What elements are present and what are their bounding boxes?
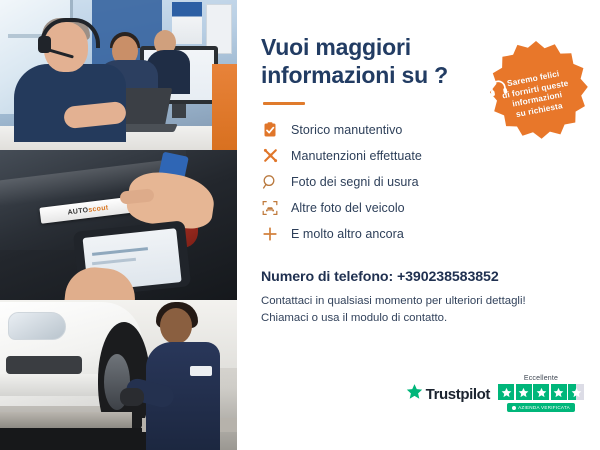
car-headlight — [8, 312, 66, 340]
trustpilot-widget[interactable]: Trustpilot Eccellente — [406, 375, 584, 412]
wall-poster — [172, 2, 202, 44]
plus-icon — [261, 225, 279, 243]
contact-text-line-1: Contattaci in qualsiasi momento per ulte… — [261, 295, 526, 307]
verified-label: AZIENDA VERIFICATA — [518, 405, 570, 410]
headline-line-2: informazioni su ? — [261, 62, 448, 88]
request-info-badge: Saremo felici di fornirti queste informa… — [482, 39, 590, 147]
trustpilot-wordmark: Trustpilot — [426, 386, 490, 403]
headline-line-1: Vuoi maggiori — [261, 34, 411, 60]
call-center-agent-photo — [0, 0, 237, 150]
star-full — [551, 384, 567, 400]
feature-label: E molto altro ancora — [291, 227, 404, 241]
feature-label: Storico manutentivo — [291, 123, 402, 137]
car-bumper — [0, 374, 108, 396]
mechanic-uniform-badge — [190, 366, 212, 376]
star-full — [516, 384, 532, 400]
phone-line: Numero di telefono: +390238583852 — [261, 269, 578, 285]
feature-label: Foto dei segni di usura — [291, 175, 419, 189]
title-divider — [263, 102, 305, 105]
feature-item-altro: E molto altro ancora — [261, 221, 578, 247]
mechanic-head — [160, 308, 192, 344]
lift-shadow — [0, 428, 160, 450]
phone-number[interactable]: +390238583852 — [397, 269, 499, 285]
verified-check-icon — [512, 406, 516, 410]
trustpilot-stars — [498, 384, 584, 400]
photo-column: AUTOscout — [0, 0, 237, 450]
car-scan-icon — [261, 199, 279, 217]
car-lift-platform — [0, 412, 132, 428]
promo-card: AUTOscout — [0, 0, 600, 450]
clipboard-check-icon — [261, 121, 279, 139]
star-full — [498, 384, 514, 400]
trustpilot-rating-word: Eccellente — [524, 375, 558, 382]
mechanic-glove — [120, 388, 144, 406]
star-half — [568, 384, 584, 400]
page-title: Vuoi maggiori informazioni su ? — [261, 34, 461, 90]
orange-shelf — [212, 64, 237, 150]
contact-text: Contattaci in qualsiasi momento per ulte… — [261, 293, 578, 327]
feature-label: Altre foto del veicolo — [291, 201, 405, 215]
trustpilot-logo: Trustpilot — [406, 383, 490, 405]
feature-item-foto-usura: Foto dei segni di usura — [261, 169, 578, 195]
phone-label: Numero di telefono: — [261, 269, 393, 285]
car-grille — [6, 356, 82, 374]
vehicle-inspection-photo: AUTOscout — [0, 150, 237, 300]
tools-cross-icon — [261, 147, 279, 165]
contact-text-line-2: Chiamaci o usa il modulo di contatto. — [261, 312, 447, 324]
trustpilot-rating: Eccellente — [498, 375, 584, 412]
monitor-stand — [172, 104, 186, 118]
feature-item-altre-foto: Altre foto del veicolo — [261, 195, 578, 221]
content-panel: Vuoi maggiori informazioni su ? Storico … — [237, 0, 600, 450]
feature-label: Manutenzioni effettuate — [291, 149, 422, 163]
magnifier-icon — [261, 173, 279, 191]
star-full — [533, 384, 549, 400]
trustpilot-star-icon — [406, 383, 423, 405]
mechanic-wheel-photo — [0, 300, 237, 450]
verified-business-badge: AZIENDA VERIFICATA — [507, 403, 575, 412]
